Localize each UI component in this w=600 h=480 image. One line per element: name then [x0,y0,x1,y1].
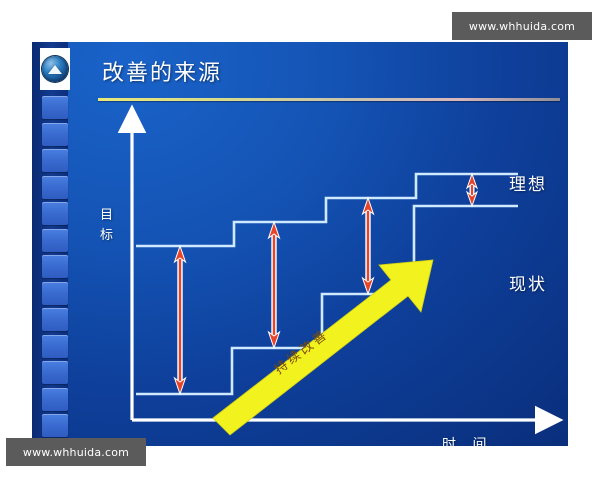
gap-arrow-1 [175,246,186,394]
company-emblem-icon [42,56,68,82]
logo-tile [40,48,70,90]
sidebar-block [42,149,68,172]
sidebar-block [42,176,68,199]
title-divider [98,98,560,101]
sidebar-block [42,202,68,225]
sidebar-block [42,282,68,305]
series-label-ideal: 理想 [509,170,547,195]
page-title: 改善的来源 [102,55,222,87]
series-current-staircase [136,206,518,394]
sidebar-block [42,96,68,119]
staircase-chart: 持续改善 [68,102,568,446]
page-background: 改善的来源 [0,0,600,480]
gap-arrow-4 [467,174,477,206]
sidebar-block-strip [42,42,68,446]
sidebar-block [42,361,68,384]
chart-svg: 持续改善 [68,102,568,446]
watermark-bottom-left: www.whhuida.com [6,438,146,466]
watermark-top-right: www.whhuida.com [452,12,592,40]
gap-arrow-2 [269,222,280,348]
x-axis-label: 时 间 [442,434,492,446]
sidebar-block [42,414,68,437]
sidebar-block [42,308,68,331]
sidebar-block [42,123,68,146]
series-label-current: 现状 [509,270,547,295]
series-ideal-staircase [136,174,518,246]
sidebar-block [42,335,68,358]
presentation-slide: 改善的来源 [32,42,568,446]
sidebar-block [42,229,68,252]
sidebar-block [42,255,68,278]
gap-arrow-3 [363,198,374,294]
sidebar-block [42,388,68,411]
y-axis-label: 目标 [98,206,116,246]
